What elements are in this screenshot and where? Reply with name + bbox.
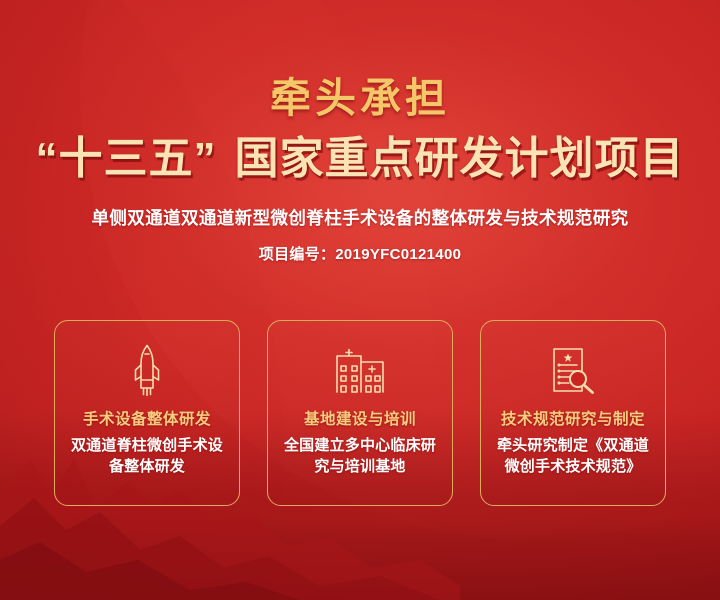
feature-card-description: 牵头研究制定《双通道微创手术技术规范》 xyxy=(493,436,653,477)
feature-card-equipment-rnd[interactable]: 手术设备整体研发 双通道脊柱微创手术设备整体研发 xyxy=(54,320,240,506)
poster-header: 牵头承担 “十三五”国家重点研发计划项目 单侧双通道双通道新型微创脊柱手术设备的… xyxy=(0,0,720,264)
feature-card-description: 双通道脊柱微创手术设备整体研发 xyxy=(67,436,227,477)
feature-card-description: 全国建立多中心临床研究与培训基地 xyxy=(280,436,440,477)
feature-card-title: 基地建设与培训 xyxy=(304,407,416,429)
project-subtitle: 单侧双通道双通道新型微创脊柱手术设备的整体研发与技术规范研究 xyxy=(0,205,720,230)
document-magnifier-icon xyxy=(550,343,596,397)
feature-card-base-training[interactable]: 基地建设与培训 全国建立多中心临床研究与培训基地 xyxy=(267,320,453,506)
feature-card-list: 手术设备整体研发 双通道脊柱微创手术设备整体研发 xyxy=(54,320,666,506)
page-title-main: 牵头承担 xyxy=(0,78,720,119)
project-number: 项目编号：2019YFC0121400 xyxy=(0,243,720,264)
feature-card-title: 手术设备整体研发 xyxy=(83,407,211,429)
feature-card-title: 技术规范研究与制定 xyxy=(501,407,645,429)
hospital-building-icon xyxy=(335,343,385,397)
page-title-sub-rest: 国家重点研发计划项目 xyxy=(235,134,685,183)
poster-banner: 牵头承担 “十三五”国家重点研发计划项目 单侧双通道双通道新型微创脊柱手术设备的… xyxy=(0,0,720,600)
feature-card-standards[interactable]: 技术规范研究与制定 牵头研究制定《双通道微创手术技术规范》 xyxy=(480,320,666,506)
page-title-sub: “十三五”国家重点研发计划项目 xyxy=(0,136,720,183)
rocket-icon xyxy=(130,343,164,397)
page-title-sub-quoted: “十三五” xyxy=(36,134,217,183)
